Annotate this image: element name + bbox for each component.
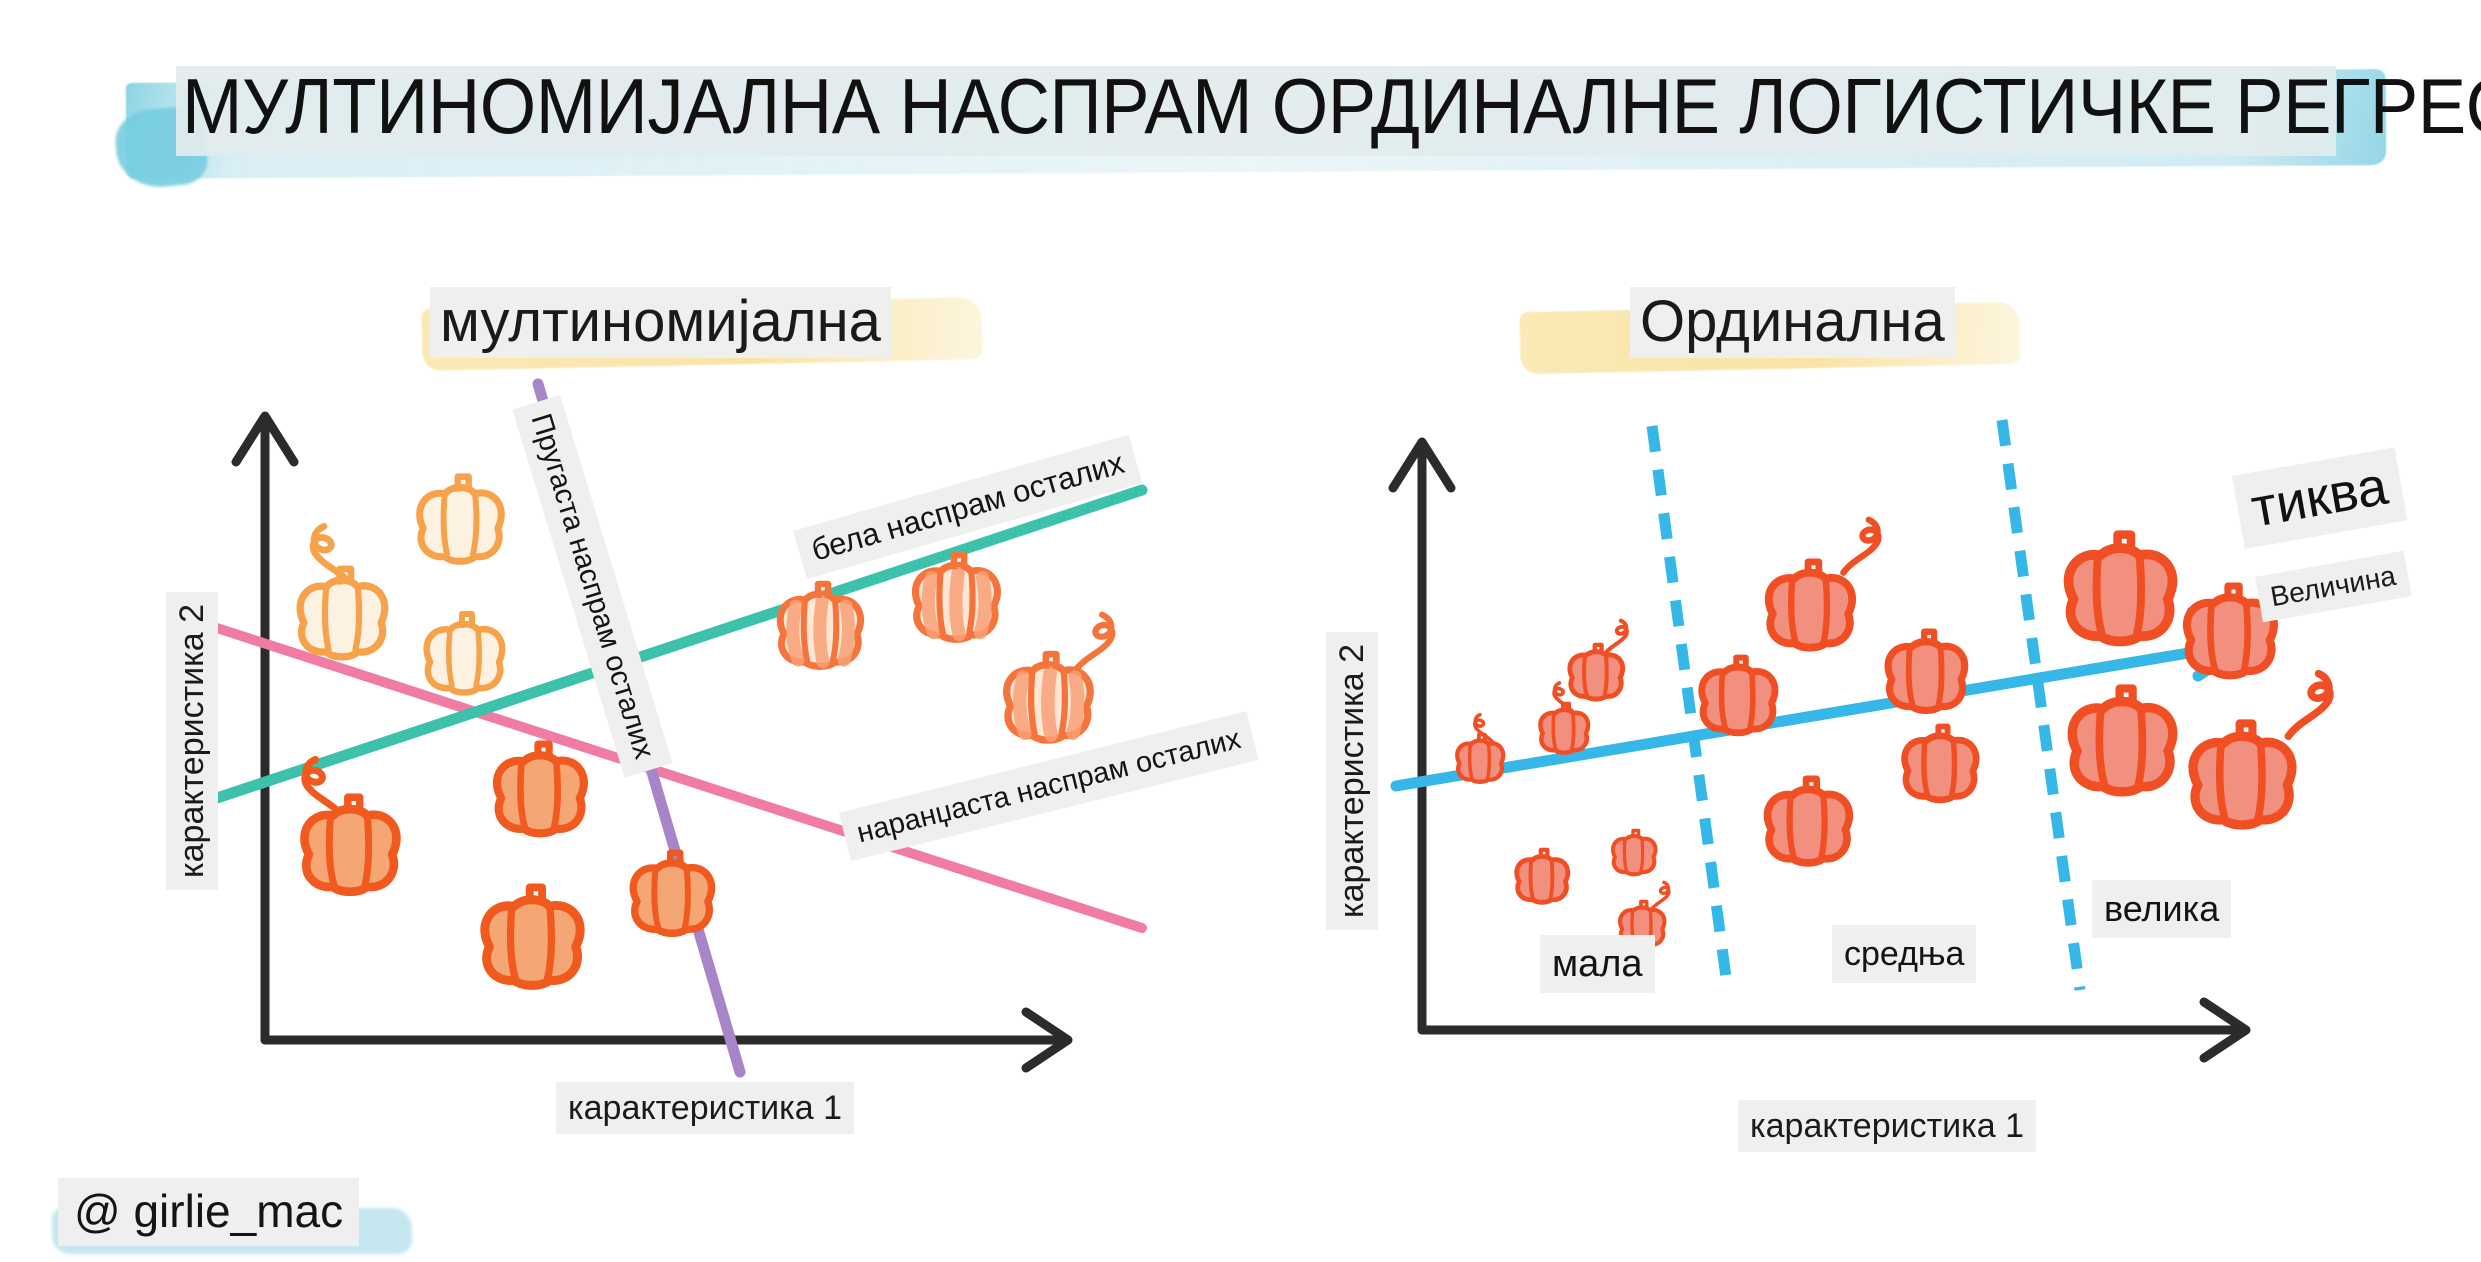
pumpkin-medium-2 bbox=[1769, 520, 1879, 648]
x-axis-label-right: карактеристика 1 bbox=[1738, 1100, 2036, 1152]
panel-title-multinomial-text: мултиномијална bbox=[430, 287, 891, 358]
category-label-small: мала bbox=[1540, 935, 1655, 993]
pumpkin-small-5 bbox=[1613, 831, 1656, 875]
pumpkin-orange-1 bbox=[304, 759, 396, 891]
pumpkin-striped-1 bbox=[780, 584, 860, 667]
page-title-block: МУЛТИНОМИЈАЛНА НАСПРАМ ОРДИНАЛНЕ ЛОГИСТИ… bbox=[168, 66, 2388, 174]
x-axis-label-left: карактеристика 1 bbox=[556, 1082, 854, 1134]
page-title: МУЛТИНОМИЈАЛНА НАСПРАМ ОРДИНАЛНЕ ЛОГИСТИ… bbox=[182, 58, 2228, 154]
category-label-medium: средња bbox=[1832, 925, 1976, 983]
pumpkin-medium-5 bbox=[1905, 727, 1977, 801]
author-handle: @ girlie_mac bbox=[58, 1178, 359, 1246]
pumpkin-striped-2 bbox=[915, 555, 997, 639]
pumpkin-large-3 bbox=[2193, 674, 2330, 825]
pumpkin-medium-4 bbox=[1888, 632, 1965, 711]
infographic-canvas: МУЛТИНОМИЈАЛНА НАСПРАМ ОРДИНАЛНЕ ЛОГИСТИ… bbox=[0, 0, 2481, 1262]
threshold-medium-large bbox=[2002, 420, 2080, 990]
category-label-large: велика bbox=[2092, 880, 2231, 938]
author-handle-block: @ girlie_mac bbox=[58, 1178, 359, 1246]
panel-title-ordinal: Ординална bbox=[1630, 285, 1955, 359]
pumpkin-white-1 bbox=[300, 526, 385, 656]
y-axis-label-right: карактеристика 2 bbox=[1326, 632, 1378, 930]
pumpkin-orange-3 bbox=[485, 887, 580, 985]
pumpkin-orange-4 bbox=[633, 853, 711, 934]
pumpkin-medium-1 bbox=[1702, 658, 1775, 733]
pumpkin-white-2 bbox=[420, 477, 502, 562]
panel-title-multinomial: мултиномијална bbox=[430, 285, 891, 359]
pumpkin-orange-2 bbox=[497, 744, 584, 833]
pumpkin-large-1 bbox=[2069, 535, 2173, 642]
pumpkin-small-3 bbox=[1570, 621, 1627, 699]
pumpkin-white-3 bbox=[427, 614, 503, 693]
y-axis-label-left: карактеристика 2 bbox=[166, 592, 218, 890]
pumpkin-large-2 bbox=[2072, 689, 2173, 792]
pumpkin-striped-3 bbox=[1007, 615, 1113, 740]
pumpkin-small-1 bbox=[1457, 715, 1503, 782]
pumpkin-medium-3 bbox=[1768, 779, 1850, 863]
panel-title-ordinal-text: Ординална bbox=[1630, 287, 1955, 358]
pumpkin-small-4 bbox=[1517, 850, 1568, 903]
